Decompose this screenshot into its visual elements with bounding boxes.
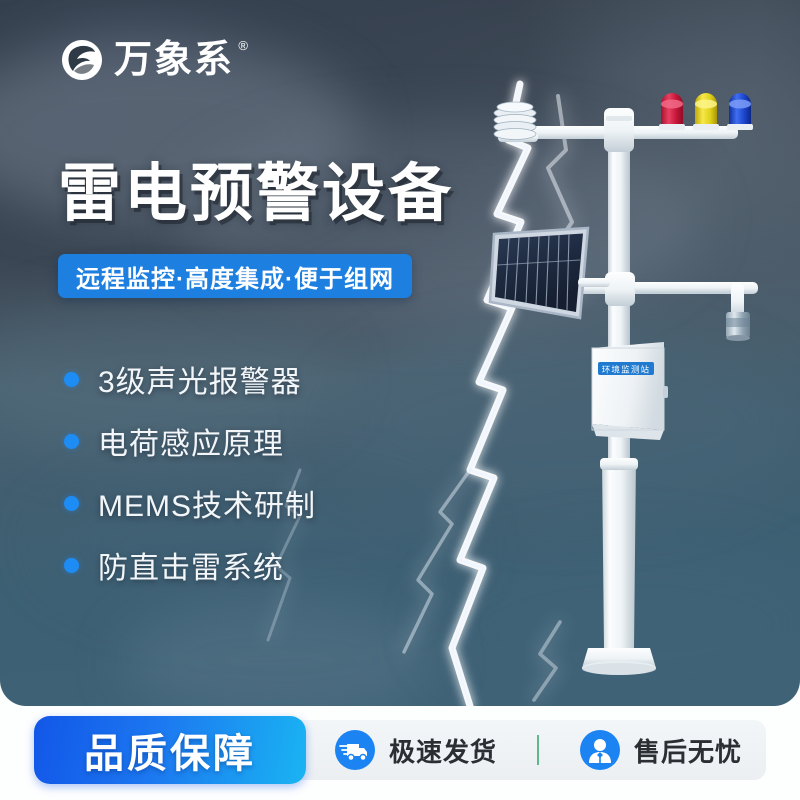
subtitle-banner: 远程监控·高度集成·便于组网 <box>58 254 412 298</box>
bullet-dot-icon <box>64 558 79 573</box>
bullet-dot-icon <box>64 496 79 511</box>
brand-name: 万象系 ® <box>114 41 234 79</box>
blue-alarm-beacon <box>727 93 753 130</box>
feature-label: 3级声光报警器 <box>98 357 302 401</box>
bullet-dot-icon <box>64 372 79 387</box>
list-item: 3级声光报警器 <box>64 348 316 410</box>
bullet-dot-icon <box>64 434 79 449</box>
trust-bar: 品质保障 极速发货 <box>34 716 766 784</box>
list-item: MEMS技术研制 <box>64 472 316 534</box>
yellow-alarm-beacon <box>693 93 719 130</box>
feature-label: 电荷感应原理 <box>98 419 284 463</box>
rain-gauge-sensor <box>634 282 750 341</box>
svg-text:环境监测站: 环境监测站 <box>602 364 651 374</box>
control-box: 环境监测站 <box>592 342 668 440</box>
registered-mark: ® <box>238 39 250 52</box>
leaf-circle-logo-icon <box>60 38 104 82</box>
feature-label: MEMS技术研制 <box>98 481 316 525</box>
trust-label: 极速发货 <box>389 732 497 769</box>
divider <box>537 735 539 765</box>
solar-panel <box>490 228 588 318</box>
trust-item-aftersales: 售后无忧 <box>579 729 742 771</box>
feature-list: 3级声光报警器 电荷感应原理 MEMS技术研制 防直击雷系统 <box>64 348 316 596</box>
quality-label: 品质保障 <box>84 721 256 779</box>
page-title: 雷电预警设备 <box>58 160 454 228</box>
list-item: 电荷感应原理 <box>64 410 316 472</box>
radiation-shield-sensor <box>494 102 538 142</box>
red-alarm-beacon <box>659 93 685 130</box>
subtitle-text: 远程监控·高度集成·便于组网 <box>76 259 394 294</box>
brand-name-text: 万象系 <box>114 39 234 81</box>
product-banner: 环境监测站 万象系 ® 雷电预警设备 远程监控·高度集成·便于组网 3级声光报警… <box>0 0 800 800</box>
trust-label: 售后无忧 <box>634 732 742 769</box>
feature-label: 防直击雷系统 <box>98 543 284 587</box>
list-item: 防直击雷系统 <box>64 534 316 596</box>
customer-service-icon <box>579 729 621 771</box>
quality-badge: 品质保障 <box>34 716 306 784</box>
trust-items: 极速发货 售后无忧 <box>290 720 766 780</box>
delivery-truck-icon <box>334 729 376 771</box>
brand-logo: 万象系 ® <box>60 38 234 82</box>
trust-item-shipping: 极速发货 <box>334 729 497 771</box>
